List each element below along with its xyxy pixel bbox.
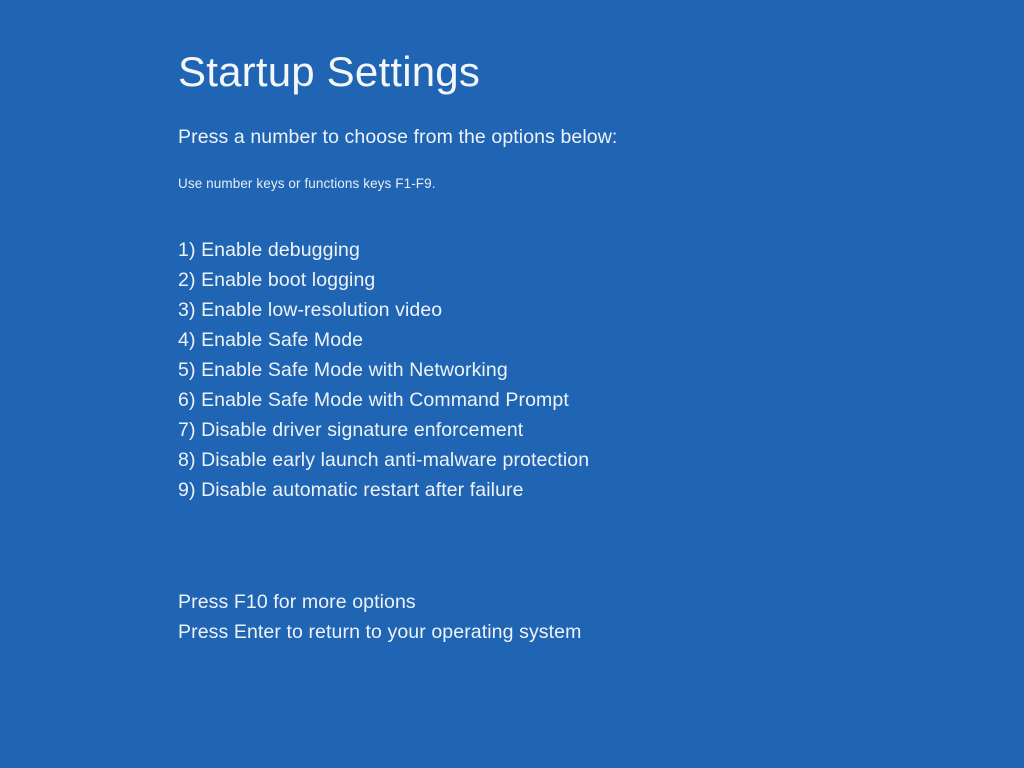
option-label: Enable Safe Mode with Command Prompt — [201, 389, 569, 411]
startup-option-6[interactable]: 6) Enable Safe Mode with Command Prompt — [178, 385, 978, 415]
footer-actions: Press F10 for more options Press Enter t… — [178, 505, 978, 647]
startup-option-7[interactable]: 7) Disable driver signature enforcement — [178, 415, 978, 445]
option-label: Enable Safe Mode with Networking — [201, 359, 508, 381]
content-column: Startup Settings Press a number to choos… — [178, 0, 978, 647]
return-to-os-action[interactable]: Press Enter to return to your operating … — [178, 617, 978, 647]
option-number: 2) — [178, 269, 201, 291]
option-label: Disable driver signature enforcement — [201, 419, 523, 441]
startup-option-8[interactable]: 8) Disable early launch anti-malware pro… — [178, 445, 978, 475]
startup-option-5[interactable]: 5) Enable Safe Mode with Networking — [178, 355, 978, 385]
startup-settings-screen: Startup Settings Press a number to choos… — [0, 0, 1024, 768]
option-label: Disable early launch anti-malware protec… — [201, 449, 589, 471]
option-number: 1) — [178, 239, 201, 261]
startup-option-4[interactable]: 4) Enable Safe Mode — [178, 325, 978, 355]
option-number: 6) — [178, 389, 201, 411]
option-number: 9) — [178, 479, 201, 501]
instruction-text: Press a number to choose from the option… — [178, 93, 978, 148]
option-number: 7) — [178, 419, 201, 441]
startup-option-3[interactable]: 3) Enable low-resolution video — [178, 295, 978, 325]
option-label: Enable debugging — [201, 239, 360, 261]
startup-options-list: 1) Enable debugging 2) Enable boot loggi… — [178, 190, 978, 505]
option-label: Enable boot logging — [201, 269, 375, 291]
option-label: Enable low-resolution video — [201, 299, 442, 321]
option-number: 4) — [178, 329, 201, 351]
option-label: Enable Safe Mode — [201, 329, 363, 351]
page-title: Startup Settings — [178, 0, 978, 93]
option-label: Disable automatic restart after failure — [201, 479, 524, 501]
startup-option-1[interactable]: 1) Enable debugging — [178, 235, 978, 265]
option-number: 3) — [178, 299, 201, 321]
startup-option-9[interactable]: 9) Disable automatic restart after failu… — [178, 475, 978, 505]
key-hint-text: Use number keys or functions keys F1-F9. — [178, 148, 978, 191]
startup-option-2[interactable]: 2) Enable boot logging — [178, 265, 978, 295]
option-number: 5) — [178, 359, 201, 381]
more-options-action[interactable]: Press F10 for more options — [178, 587, 978, 617]
option-number: 8) — [178, 449, 201, 471]
